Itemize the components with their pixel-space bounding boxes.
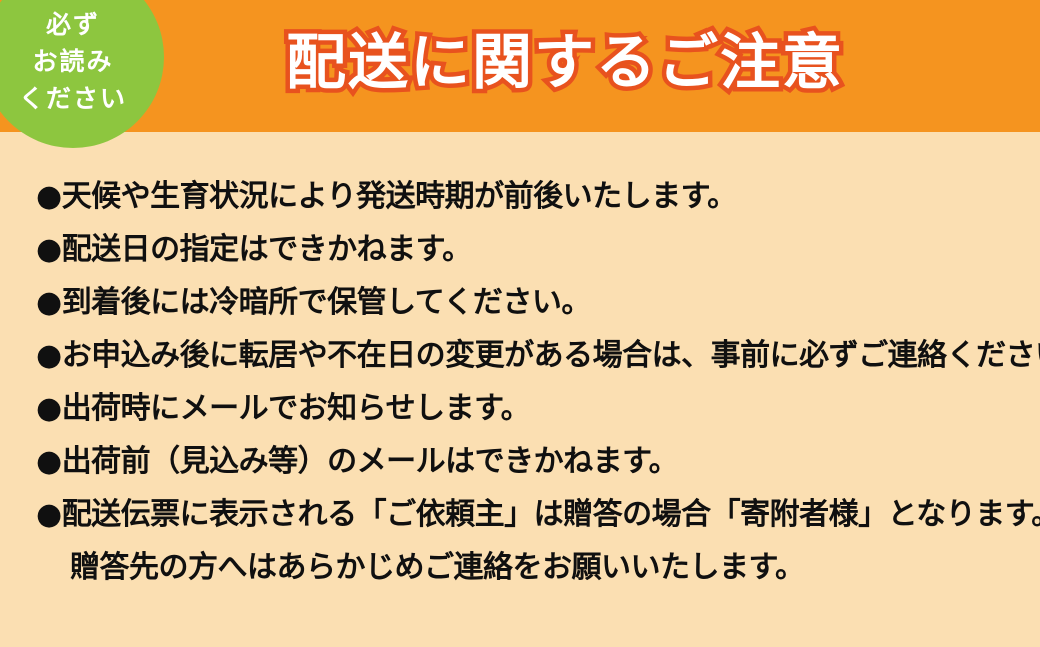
notice-item: ● お申込み後に転居や不在日の変更がある場合は、事前に必ずご連絡ください。 (36, 329, 1026, 382)
notice-text: 配送伝票に表示される「ご依頼主」は贈答の場合「寄附者様」となります。 (62, 488, 1040, 541)
notice-item: ● 配送日の指定はできかねます。 (36, 223, 1026, 276)
notice-item-continuation: 贈答先の方へはあらかじめご連絡をお願いいたします。 (36, 541, 1026, 594)
bullet-icon: ● (36, 223, 62, 276)
bullet-icon: ● (36, 382, 62, 435)
notice-text: 出荷前（見込み等）のメールはできかねます。 (62, 435, 679, 488)
bullet-icon: ● (36, 435, 62, 488)
badge-line-3: ください (0, 80, 164, 117)
notice-item: ● 配送伝票に表示される「ご依頼主」は贈答の場合「寄附者様」となります。 (36, 488, 1026, 541)
bullet-icon: ● (36, 329, 62, 382)
notice-text: 到着後には冷暗所で保管してください。 (62, 276, 591, 329)
must-read-badge-text: 必ず お読み ください (0, 6, 164, 117)
notice-item: ● 到着後には冷暗所で保管してください。 (36, 276, 1026, 329)
badge-line-2: お読み (0, 43, 164, 80)
notice-text: 配送日の指定はできかねます。 (62, 223, 472, 276)
notice-item: ● 天候や生育状況により発送時期が前後いたします。 (36, 170, 1026, 223)
notice-text: お申込み後に転居や不在日の変更がある場合は、事前に必ずご連絡ください。 (62, 329, 1040, 382)
notice-item: ● 出荷時にメールでお知らせします。 (36, 382, 1026, 435)
badge-line-1: 必ず (0, 6, 164, 43)
notice-text: 天候や生育状況により発送時期が前後いたします。 (62, 170, 737, 223)
bullet-icon: ● (36, 488, 62, 541)
notice-item: ● 出荷前（見込み等）のメールはできかねます。 (36, 435, 1026, 488)
notice-text: 出荷時にメールでお知らせします。 (62, 382, 530, 435)
bullet-icon: ● (36, 170, 62, 223)
bullet-icon: ● (36, 276, 62, 329)
notice-list: ● 天候や生育状況により発送時期が前後いたします。 ● 配送日の指定はできかねま… (36, 170, 1026, 594)
shipping-notice-poster: 配送に関するご注意 必ず お読み ください ● 天候や生育状況により発送時期が前… (0, 0, 1040, 647)
notice-text: 贈答先の方へはあらかじめご連絡をお願いいたします。 (70, 541, 805, 594)
